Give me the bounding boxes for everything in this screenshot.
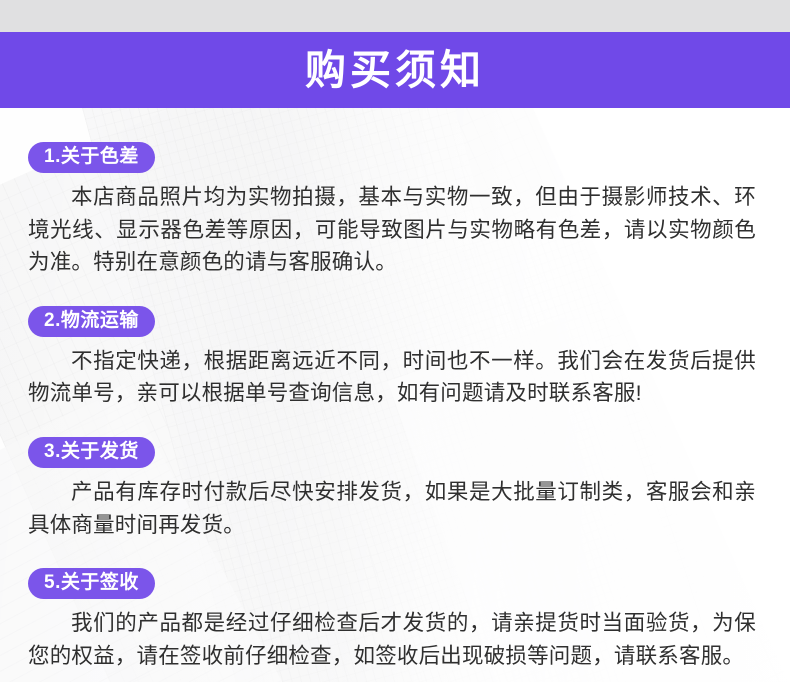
page-title: 购买须知	[305, 50, 485, 91]
section-label-2: 2.物流运输	[28, 306, 155, 337]
section-color-difference: 1.关于色差 本店商品照片均为实物拍摄，基本与实物一致，但由于摄影师技术、环境光…	[0, 142, 790, 279]
section-label-3: 3.关于发货	[28, 437, 155, 468]
section-body-4: 我们的产品都是经过仔细检查后才发货的，请亲提货时当面验货，为保您的权益，请在签收…	[28, 607, 756, 672]
section-body-3: 产品有库存时付款后尽快安排发货，如果是大批量订制类，客服会和亲具体商量时间再发货…	[28, 476, 756, 541]
section-label-1: 1.关于色差	[28, 142, 155, 173]
section-shipping: 3.关于发货 产品有库存时付款后尽快安排发货，如果是大批量订制类，客服会和亲具体…	[0, 437, 790, 541]
section-body-2: 不指定快递，根据距离远近不同，时间也不一样。我们会在发货后提供物流单号，亲可以根…	[28, 345, 756, 410]
section-logistics: 2.物流运输 不指定快递，根据距离远近不同，时间也不一样。我们会在发货后提供物流…	[0, 306, 790, 410]
top-gray-strip	[0, 0, 790, 32]
page-header-banner: 购买须知	[0, 32, 790, 108]
section-body-1: 本店商品照片均为实物拍摄，基本与实物一致，但由于摄影师技术、环境光线、显示器色差…	[28, 181, 756, 279]
notice-sections: 1.关于色差 本店商品照片均为实物拍摄，基本与实物一致，但由于摄影师技术、环境光…	[0, 108, 790, 672]
section-receipt: 5.关于签收 我们的产品都是经过仔细检查后才发货的，请亲提货时当面验货，为保您的…	[0, 568, 790, 672]
section-label-4: 5.关于签收	[28, 568, 155, 599]
purchase-notice-page: 购买须知 1.关于色差 本店商品照片均为实物拍摄，基本与实物一致，但由于摄影师技…	[0, 0, 790, 682]
